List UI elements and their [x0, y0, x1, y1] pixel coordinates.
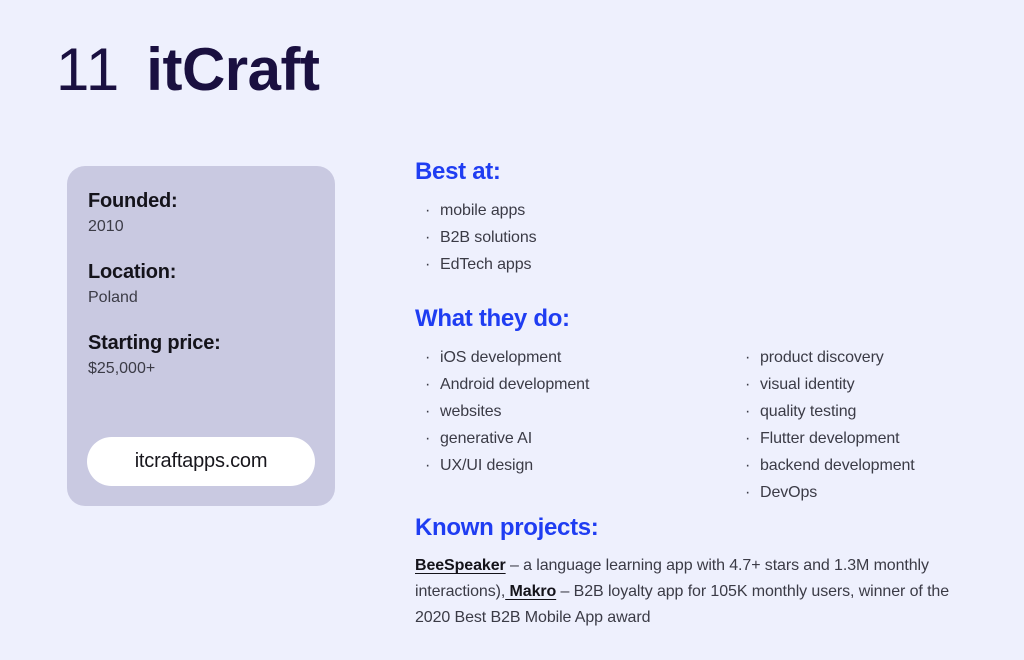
- bullet-dot-icon: ·: [415, 398, 440, 425]
- heading-known-projects: Known projects:: [415, 514, 985, 543]
- bullet-dot-icon: ·: [415, 251, 440, 278]
- list-item-label: iOS development: [440, 344, 561, 371]
- list-item: · iOS development: [415, 344, 735, 371]
- content-column: Best at: · mobile apps · B2B solutions ·…: [415, 158, 985, 647]
- info-label-location: Location:: [88, 259, 313, 285]
- what-they-do-list-right: · product discovery · visual identity · …: [735, 344, 985, 506]
- bullet-dot-icon: ·: [735, 371, 760, 398]
- list-item-label: Android development: [440, 371, 589, 398]
- info-block-founded: Founded: 2010: [88, 188, 313, 238]
- list-item-label: backend development: [760, 452, 915, 479]
- info-value-starting-price: $25,000+: [88, 357, 313, 380]
- page-title: 11 itCraft: [56, 40, 319, 100]
- heading-best-at: Best at:: [415, 158, 985, 187]
- list-item: · backend development: [735, 452, 985, 479]
- what-they-do-list-left: · iOS development · Android development …: [415, 344, 735, 506]
- info-label-starting-price: Starting price:: [88, 330, 313, 356]
- what-they-do-columns: · iOS development · Android development …: [415, 344, 985, 506]
- list-item: · visual identity: [735, 371, 985, 398]
- list-item-label: B2B solutions: [440, 224, 537, 251]
- list-item-label: quality testing: [760, 398, 856, 425]
- bullet-dot-icon: ·: [415, 371, 440, 398]
- bullet-dot-icon: ·: [735, 452, 760, 479]
- list-item: · websites: [415, 398, 735, 425]
- list-item: · generative AI: [415, 425, 735, 452]
- list-item-label: visual identity: [760, 371, 855, 398]
- heading-what-they-do: What they do:: [415, 305, 985, 334]
- list-item-label: generative AI: [440, 425, 532, 452]
- list-item: · EdTech apps: [415, 251, 985, 278]
- list-item: · Android development: [415, 371, 735, 398]
- bullet-dot-icon: ·: [415, 425, 440, 452]
- list-item: · Flutter development: [735, 425, 985, 452]
- bullet-dot-icon: ·: [415, 197, 440, 224]
- project-link-makro[interactable]: Makro: [505, 583, 556, 600]
- bullet-dot-icon: ·: [735, 425, 760, 452]
- best-at-list: · mobile apps · B2B solutions · EdTech a…: [415, 197, 985, 278]
- bullet-dot-icon: ·: [415, 224, 440, 251]
- bullet-dot-icon: ·: [735, 398, 760, 425]
- bullet-dot-icon: ·: [415, 344, 440, 371]
- list-item: · DevOps: [735, 479, 985, 506]
- info-label-founded: Founded:: [88, 188, 313, 214]
- website-link-button[interactable]: itcraftapps.com: [87, 437, 315, 486]
- info-block-location: Location: Poland: [88, 259, 313, 309]
- list-item: · UX/UI design: [415, 452, 735, 479]
- list-item-label: websites: [440, 398, 501, 425]
- list-item: · product discovery: [735, 344, 985, 371]
- bullet-dot-icon: ·: [415, 452, 440, 479]
- list-item: · quality testing: [735, 398, 985, 425]
- list-item-label: mobile apps: [440, 197, 525, 224]
- known-projects-paragraph: BeeSpeaker – a language learning app wit…: [415, 553, 963, 631]
- project-link-beespeaker[interactable]: BeeSpeaker: [415, 557, 506, 574]
- info-value-location: Poland: [88, 286, 313, 309]
- bullet-dot-icon: ·: [735, 344, 760, 371]
- list-item-label: DevOps: [760, 479, 817, 506]
- rank-number: 11: [56, 40, 120, 100]
- info-block-starting-price: Starting price: $25,000+: [88, 330, 313, 380]
- list-item-label: UX/UI design: [440, 452, 533, 479]
- list-item-label: EdTech apps: [440, 251, 531, 278]
- list-item-label: product discovery: [760, 344, 884, 371]
- company-name: itCraft: [146, 40, 319, 100]
- bullet-dot-icon: ·: [735, 479, 760, 506]
- list-item: · mobile apps: [415, 197, 985, 224]
- info-value-founded: 2010: [88, 215, 313, 238]
- list-item-label: Flutter development: [760, 425, 900, 452]
- list-item: · B2B solutions: [415, 224, 985, 251]
- company-info-card: Founded: 2010 Location: Poland Starting …: [67, 166, 335, 506]
- website-link-label: itcraftapps.com: [135, 450, 268, 473]
